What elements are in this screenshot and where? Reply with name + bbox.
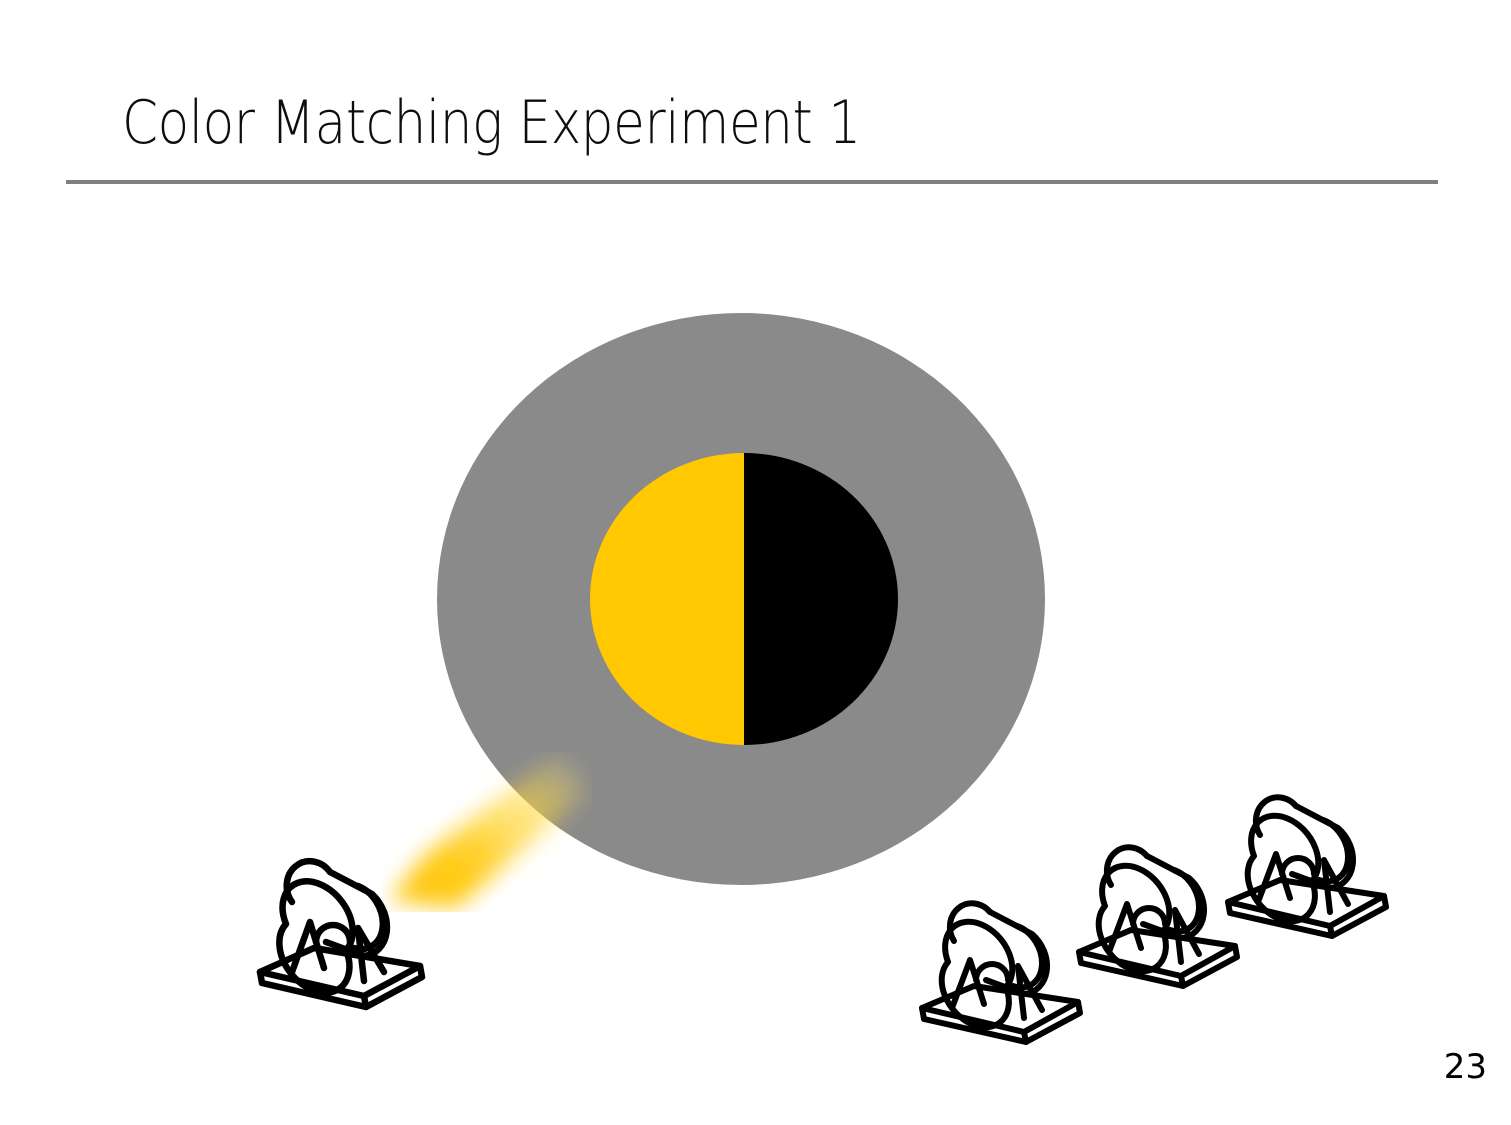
spotlight-pivot-knob [1282, 858, 1314, 874]
slide: Color Matching Experiment 1 [0, 0, 1511, 1125]
bipartite-test-disc [590, 453, 898, 745]
spotlight-pivot-knob [1133, 908, 1165, 924]
spotlight-pivot-knob [316, 925, 350, 942]
stimulus-figure [437, 313, 1045, 885]
test-half-black [744, 453, 898, 745]
page-title: Color Matching Experiment 1 [122, 92, 1154, 155]
spotlight-left[interactable] [252, 850, 457, 1010]
spotlight-pivot-knob [976, 964, 1008, 980]
title-divider [66, 180, 1438, 184]
spotlight-right-3[interactable] [1222, 786, 1408, 932]
test-half-yellow [590, 453, 744, 745]
page-number: 23 [1444, 1047, 1487, 1087]
